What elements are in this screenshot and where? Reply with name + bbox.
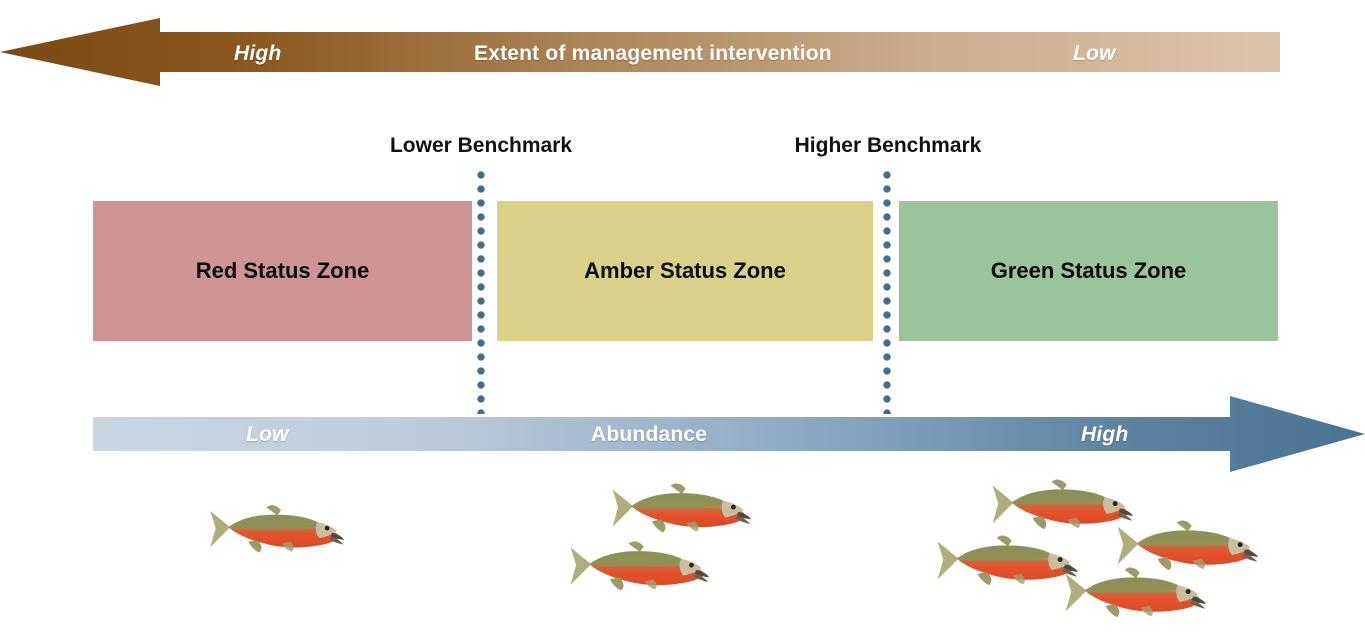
amber-status-zone[interactable]: Amber Status Zone (497, 201, 873, 341)
top-axis-left-label: High (234, 43, 281, 64)
diagram-canvas: High Extent of management intervention L… (0, 0, 1365, 639)
salmon-icon (203, 500, 348, 560)
salmon-icon (1058, 562, 1210, 625)
bottom-axis-center-label: Abundance (591, 424, 707, 445)
management-intervention-arrow: High Extent of management intervention L… (0, 18, 1280, 86)
salmon-icon (605, 478, 755, 540)
green-status-zone-label: Green Status Zone (991, 260, 1187, 282)
lower-benchmark-line (477, 168, 486, 414)
salmon-icon (563, 536, 713, 598)
amber-status-zone-label: Amber Status Zone (584, 260, 786, 282)
higher-benchmark-label: Higher Benchmark (795, 135, 982, 156)
bottom-axis-left-label: Low (246, 424, 289, 445)
red-status-zone[interactable]: Red Status Zone (93, 201, 472, 341)
red-status-zone-label: Red Status Zone (196, 260, 370, 282)
green-status-zone[interactable]: Green Status Zone (899, 201, 1278, 341)
top-axis-center-label: Extent of management intervention (474, 43, 832, 64)
bottom-axis-right-label: High (1081, 424, 1128, 445)
higher-benchmark-line (883, 168, 892, 414)
abundance-arrow: Low Abundance High (93, 394, 1365, 474)
top-axis-right-label: Low (1073, 43, 1116, 64)
lower-benchmark-label: Lower Benchmark (390, 135, 572, 156)
